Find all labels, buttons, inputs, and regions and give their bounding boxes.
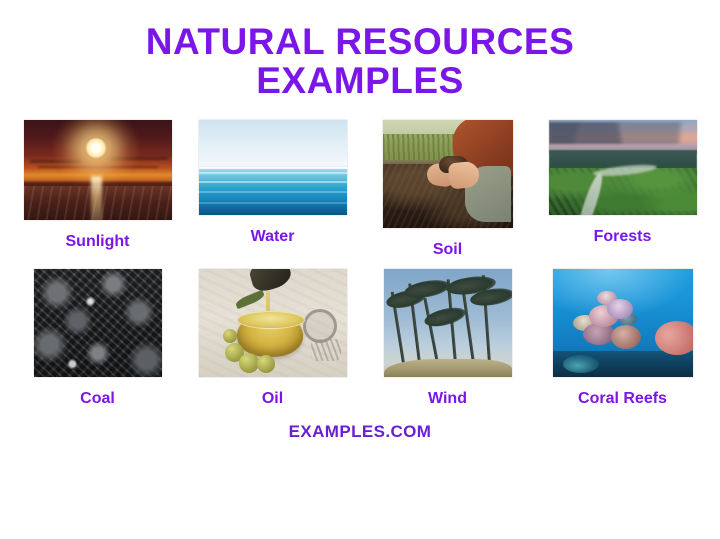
example-card-wind: Wind xyxy=(368,269,528,408)
forest-canopy xyxy=(549,168,697,215)
example-card-coal: Coal xyxy=(18,269,178,408)
caption-coral-reefs: Coral Reefs xyxy=(578,390,667,408)
coral-reefs-image xyxy=(553,269,693,377)
grassy-dune xyxy=(384,359,512,377)
sunlight-image xyxy=(24,120,172,220)
oil-image xyxy=(199,269,347,377)
forests-image xyxy=(549,120,697,215)
coral-head xyxy=(611,325,641,349)
wave-streak xyxy=(199,181,347,183)
grid-row-1: Sunlight Water xyxy=(10,120,710,259)
examples-grid: Sunlight Water xyxy=(10,120,710,408)
example-card-sunlight: Sunlight xyxy=(18,120,178,251)
example-card-coral-reefs: Coral Reefs xyxy=(543,269,703,408)
infographic-poster: NATURAL RESOURCES EXAMPLES Sunlight xyxy=(0,0,720,539)
cloud-streaks xyxy=(549,122,697,144)
footer-brand: EXAMPLES.COM xyxy=(289,422,432,442)
grid-row-2: Coal Oil xyxy=(10,269,710,408)
page-title: NATURAL RESOURCES EXAMPLES xyxy=(146,22,575,100)
caption-coal: Coal xyxy=(80,390,115,408)
title-line-1: NATURAL RESOURCES xyxy=(146,22,575,61)
caption-wind: Wind xyxy=(428,390,467,408)
sun-reflection xyxy=(91,176,102,220)
title-line-2: EXAMPLES xyxy=(146,61,575,100)
wind-image xyxy=(384,269,512,377)
example-card-soil: Soil xyxy=(368,120,528,259)
sun-icon xyxy=(86,138,106,158)
coral-head xyxy=(607,299,633,319)
caption-soil: Soil xyxy=(433,241,462,259)
water-image xyxy=(199,120,347,215)
example-card-oil: Oil xyxy=(193,269,353,408)
coal-chunks xyxy=(34,269,162,377)
horizon-line xyxy=(199,167,347,169)
caption-sunlight: Sunlight xyxy=(66,233,130,251)
caption-forests: Forests xyxy=(594,228,652,246)
example-card-forests: Forests xyxy=(543,120,703,246)
kitchen-utensil xyxy=(311,339,341,361)
kitchen-utensil xyxy=(303,309,337,343)
wave-streak xyxy=(199,172,347,174)
olive xyxy=(223,329,237,343)
olive xyxy=(239,353,259,373)
coral-head xyxy=(583,323,615,345)
wave-streak xyxy=(199,191,347,193)
caption-water: Water xyxy=(251,228,295,246)
olive xyxy=(257,355,275,373)
soil-image xyxy=(383,120,513,228)
example-card-water: Water xyxy=(193,120,353,246)
caption-oil: Oil xyxy=(262,390,283,408)
coal-image xyxy=(34,269,162,377)
wave-streak xyxy=(199,202,347,204)
